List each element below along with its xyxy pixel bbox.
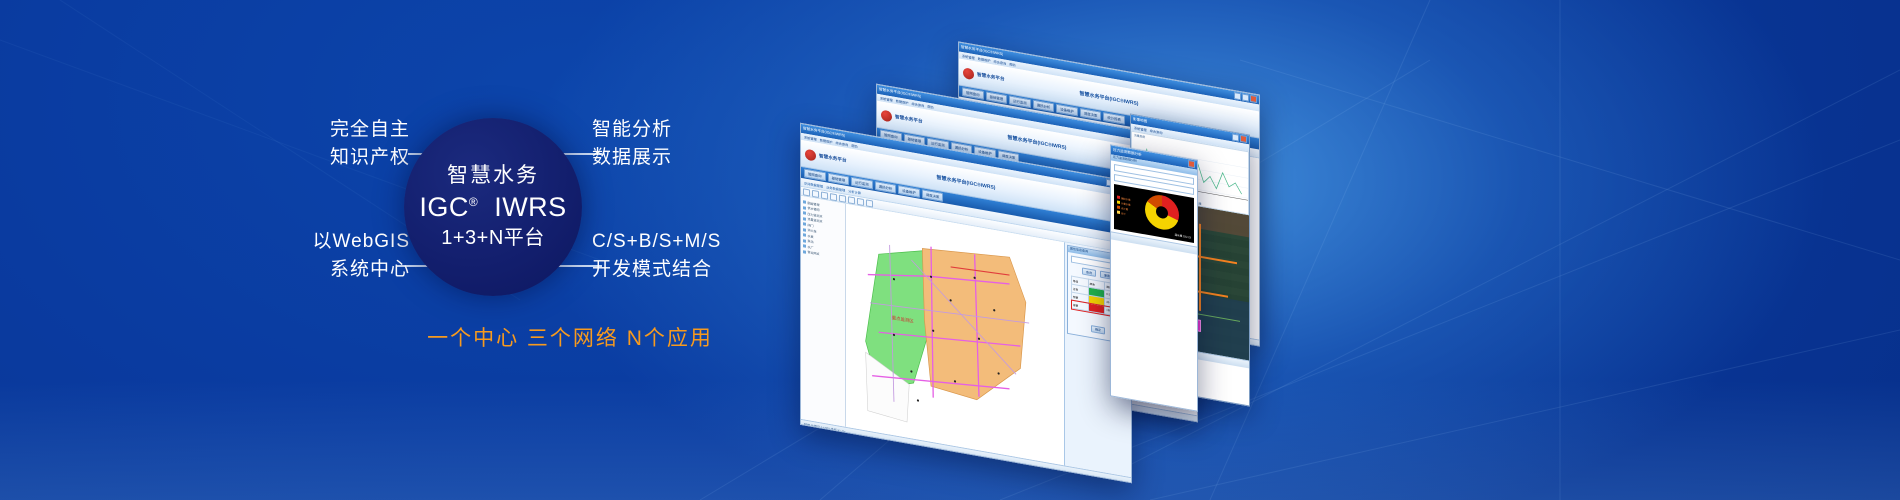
layer-icon — [803, 217, 806, 221]
gis-map-canvas[interactable]: 重点监测区 — [846, 204, 1064, 465]
zoom-out-icon[interactable] — [821, 191, 828, 199]
platform-hub-circle: 智慧水务 IGC® IWRS 1+3+N平台 — [404, 118, 582, 296]
hub-brand: IGC® IWRS — [419, 193, 566, 223]
feature-bottom-left-line2: 系统中心 — [268, 256, 410, 284]
swatch-red — [1088, 303, 1105, 314]
hub-brand-igc: IGC — [419, 192, 469, 222]
feature-bottom-right-line1: C/S+B/S+M/S — [592, 228, 782, 256]
minimize-icon[interactable] — [1232, 133, 1239, 141]
feature-bottom-right: C/S+B/S+M/S 开发模式结合 — [592, 228, 782, 283]
registered-mark-icon: ® — [469, 195, 478, 209]
hub-platform: 1+3+N平台 — [441, 226, 545, 250]
district-orange — [922, 242, 1026, 409]
layer-icon — [803, 206, 806, 210]
pan-tool-icon[interactable] — [803, 188, 810, 196]
company-logo-icon — [963, 67, 974, 80]
banner-slogan: 一个中心 三个网络 N个应用 — [360, 322, 780, 352]
legend-swatch-orange — [1117, 206, 1120, 209]
feature-bottom-left: 以WebGIS 系统中心 — [268, 228, 410, 283]
feature-top-left-line1: 完全自主 — [290, 116, 410, 144]
close-icon[interactable] — [1188, 160, 1195, 168]
layer-icon — [803, 239, 806, 243]
dialog-confirm-button[interactable]: 确定 — [1091, 325, 1105, 334]
identify-tool-icon[interactable] — [848, 196, 855, 204]
company-logo-icon — [805, 148, 816, 161]
company-logo-icon — [881, 109, 892, 122]
select-tool-icon[interactable] — [830, 193, 837, 201]
nav-right-1[interactable]: 后台 — [1080, 219, 1086, 225]
app-title-middle: 智慧水务平台(IGC®IWRS) — [1008, 133, 1067, 150]
layer-icon — [803, 211, 806, 215]
measure-tool-icon[interactable] — [839, 194, 846, 202]
feature-top-right-line2: 数据展示 — [592, 144, 762, 172]
tree-node-label: 营业网点 — [808, 250, 820, 256]
legend-swatch-red — [1117, 196, 1120, 199]
screenshot-stack: 智慧水务平台(IGC®IWRS) 系统管理 数据维护 综合查询 帮助 智慧水务平… — [790, 40, 1900, 470]
layer-icon — [803, 228, 806, 232]
gis-map-vector: 重点监测区 — [846, 204, 1064, 465]
minimize-icon[interactable] — [1234, 92, 1241, 100]
app-title-front: 智慧水务平台(IGC®IWRS) — [937, 173, 996, 190]
layer-icon — [803, 250, 806, 254]
layer-icon — [803, 244, 806, 248]
feature-top-right: 智能分析 数据展示 — [592, 116, 762, 171]
feature-bottom-right-line2: 开发模式结合 — [592, 256, 782, 284]
layer-icon — [803, 200, 806, 204]
hub-title: 智慧水务 — [447, 164, 539, 188]
close-icon[interactable] — [1240, 135, 1247, 143]
legend-swatch-yellow — [1117, 201, 1120, 204]
feature-top-left-line2: 知识产权 — [290, 144, 410, 172]
search-icon[interactable] — [866, 199, 873, 207]
brand-text-front: 智慧水务平台 — [819, 153, 847, 164]
app-title-back: 智慧水务平台(IGC®IWRS) — [1080, 89, 1139, 106]
nav-right-2[interactable]: 个人中心 — [1089, 221, 1102, 228]
tree-node-label: 水厂 — [808, 245, 814, 250]
pie-legend: 漏损水量 计量水量 未计量 合计 — [1117, 195, 1131, 216]
tree-node-label: 泵站 — [808, 239, 814, 244]
layer-tree-front[interactable]: 图层管理 供水管网 压力监测点 流量监测点 阀门 消火栓 水表 泵站 水厂 营业… — [801, 196, 846, 427]
app-window-front[interactable]: 智慧水务平台(IGC®IWRS) 系统管理 数据维护 综合查询 帮助 智慧水务平… — [800, 123, 1132, 484]
brand-text-back: 智慧水务平台 — [977, 72, 1005, 83]
window-controls-chart[interactable] — [1188, 160, 1195, 168]
hero-banner: 完全自主 知识产权 智能分析 数据展示 以WebGIS 系统中心 C/S+B/S… — [0, 0, 1900, 500]
feature-bottom-left-line1: 以WebGIS — [268, 228, 410, 256]
feature-top-left: 完全自主 知识产权 — [290, 116, 410, 171]
layer-icon — [803, 222, 806, 226]
maximize-icon[interactable] — [1242, 93, 1249, 101]
close-icon[interactable] — [1250, 95, 1257, 103]
tree-node-label: 水表 — [808, 234, 814, 239]
query-ok-button[interactable]: 查询 — [1082, 267, 1096, 276]
legend-swatch-gold — [1117, 211, 1120, 214]
sub-tab-2[interactable]: 分析计算 — [848, 188, 861, 195]
print-icon[interactable] — [857, 197, 864, 205]
brand-text-middle: 智慧水务平台 — [895, 114, 923, 125]
feature-top-right-line1: 智能分析 — [592, 116, 762, 144]
hub-brand-iwrs: IWRS — [494, 192, 567, 222]
tree-node-label: 阀门 — [808, 223, 814, 228]
cell-level: 报警 — [1072, 300, 1089, 311]
road-vertical-2 — [1199, 224, 1201, 311]
layer-icon — [803, 233, 806, 237]
nav-right-0[interactable]: 首页 — [1070, 217, 1076, 223]
zoom-in-icon[interactable] — [812, 189, 819, 197]
analysis-chart-window[interactable]: 压力监测数据分析 压力监测数据分析 漏损水量 计量水量 未计量 合计 — [1110, 144, 1198, 412]
